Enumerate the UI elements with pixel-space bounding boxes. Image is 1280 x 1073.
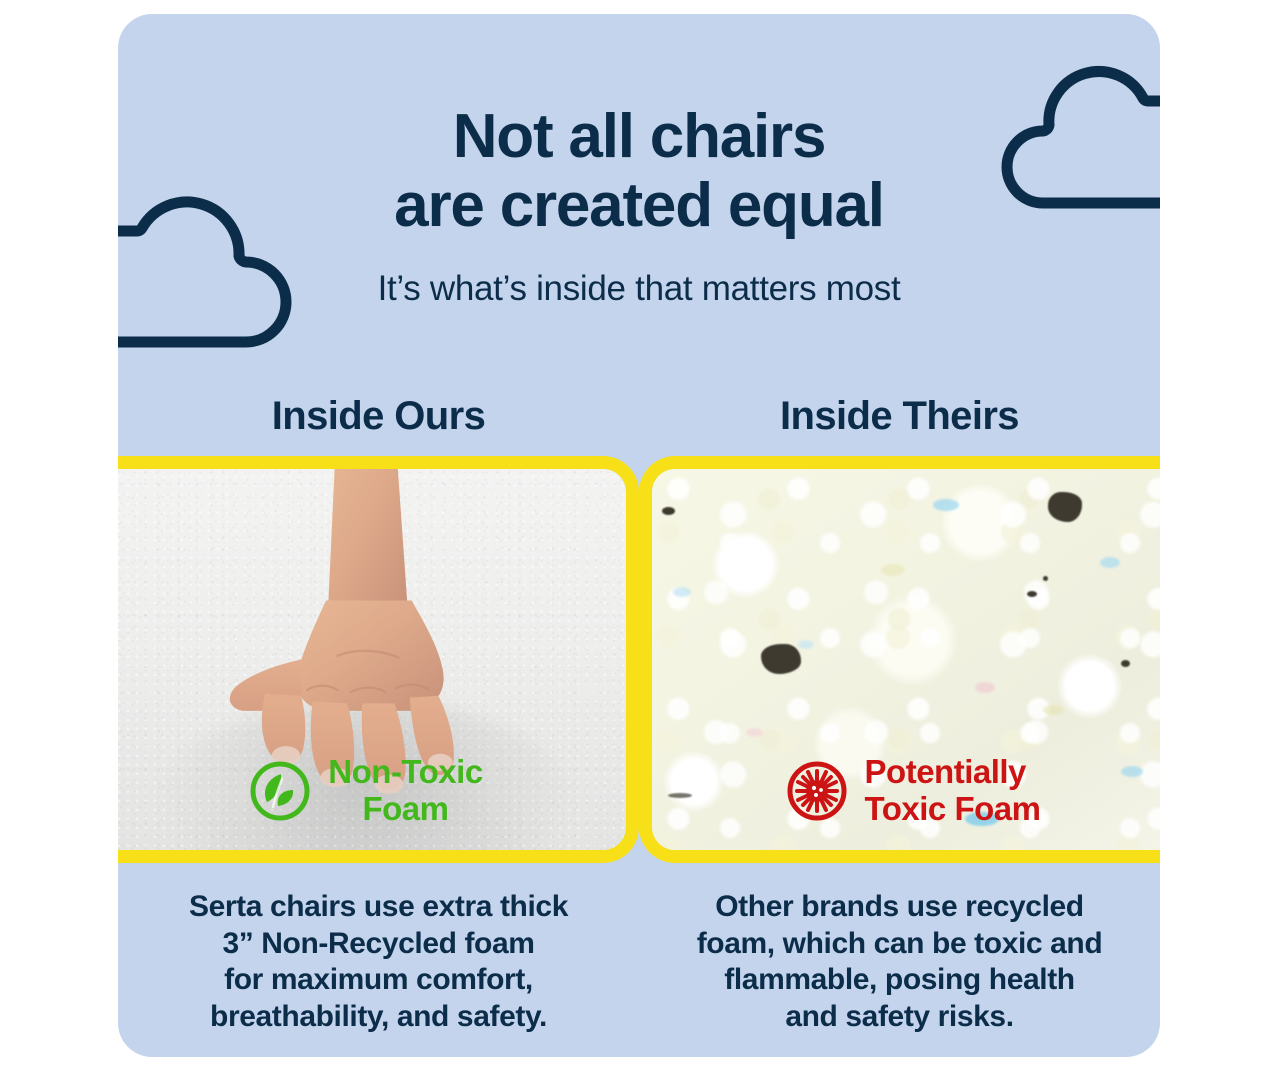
comparison-columns: Inside Ours [118,394,1160,1035]
caption-line: 3” Non-Recycled foam [142,926,615,963]
foam-debris [1027,591,1037,597]
caption-line: flammable, posing health [663,962,1136,999]
caption-theirs: Other brands use recycled foam, which ca… [639,889,1160,1035]
leaf-circle-icon [248,759,312,823]
foam-fleck [673,587,691,597]
badge-text-non-toxic: Non-Toxic Foam [328,754,482,828]
media-panel-theirs: Potentially Toxic Foam [639,456,1160,863]
foam-debris [1121,660,1130,667]
column-theirs: Inside Theirs [639,394,1160,1035]
infographic-card: Not all chairs are created equal It’s wh… [118,14,1160,1057]
badge-line-2: Toxic Foam [865,791,1041,828]
page-title: Not all chairs are created equal [118,102,1160,241]
caption-line: Other brands use recycled [663,889,1136,926]
screenshot-root: Not all chairs are created equal It’s wh… [0,0,1280,1073]
foam-debris [1043,576,1048,581]
badge-text-potentially-toxic: Potentially Toxic Foam [865,754,1041,828]
caption-line: foam, which can be toxic and [663,926,1136,963]
foam-fleck [1100,557,1120,568]
badge-line-2: Foam [328,791,482,828]
column-ours: Inside Ours [118,394,639,1035]
caption-line: Serta chairs use extra thick [142,889,615,926]
foam-debris [761,644,801,674]
column-title-ours: Inside Ours [118,394,639,439]
virus-circle-icon [785,759,849,823]
caption-ours: Serta chairs use extra thick 3” Non-Recy… [118,889,639,1035]
badge-line-1: Potentially [865,754,1041,791]
badge-line-1: Non-Toxic [328,754,482,791]
headline-line-2: are created equal [118,171,1160,240]
badge-non-toxic-foam: Non-Toxic Foam [118,754,626,828]
page-subtitle: It’s what’s inside that matters most [118,269,1160,309]
foam-fleck [746,728,763,737]
media-panel-ours: Non-Toxic Foam [118,456,639,863]
caption-line: breathability, and safety. [142,999,615,1036]
badge-potentially-toxic-foam: Potentially Toxic Foam [652,754,1160,828]
headline-line-1: Not all chairs [453,102,826,171]
foam-debris [1048,492,1082,522]
caption-line: for maximum comfort, [142,962,615,999]
caption-line: and safety risks. [663,999,1136,1036]
column-title-theirs: Inside Theirs [639,394,1160,439]
